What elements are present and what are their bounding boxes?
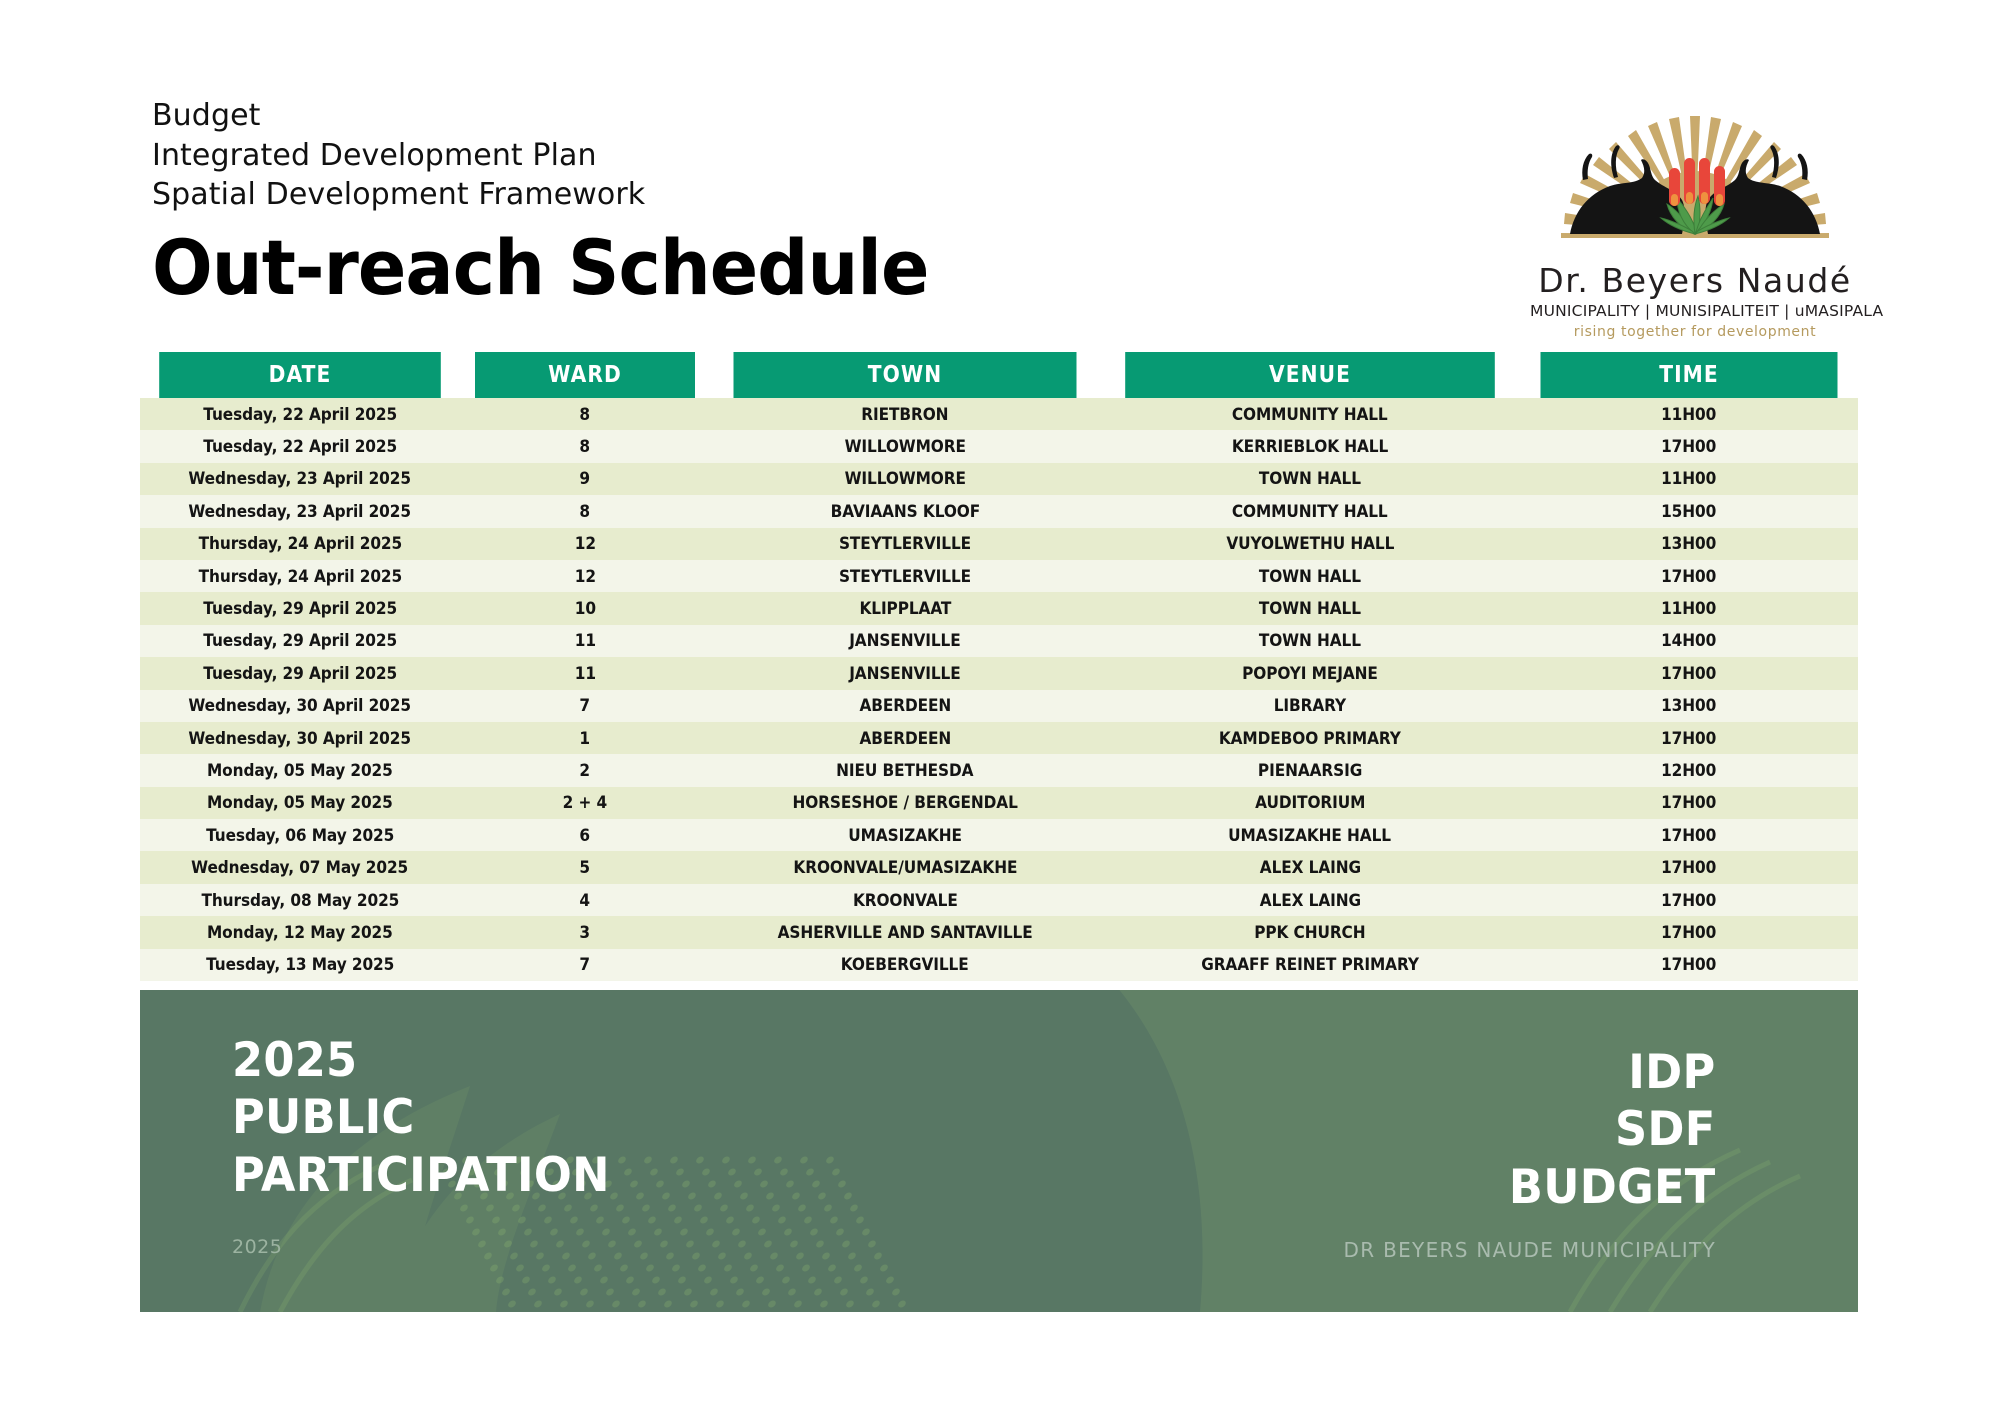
cell-ward: 4 bbox=[460, 884, 710, 916]
cell-venue: ALEX LAING bbox=[1100, 884, 1520, 916]
cell-venue: UMASIZAKHE HALL bbox=[1100, 819, 1520, 851]
public-participation-banner: 2025 PUBLIC PARTICIPATION 2025 IDP SDF B… bbox=[140, 990, 1858, 1312]
cell-venue: TOWN HALL bbox=[1100, 625, 1520, 657]
banner-left-footnote: 2025 bbox=[232, 1236, 282, 1258]
cell-date: Wednesday, 30 April 2025 bbox=[140, 722, 460, 754]
table-head: DATE WARD TOWN VENUE TIME bbox=[140, 352, 1858, 398]
cell-venue: PPK CHURCH bbox=[1100, 916, 1520, 948]
cell-time: 11H00 bbox=[1520, 592, 1858, 624]
cell-date: Thursday, 24 April 2025 bbox=[140, 560, 460, 592]
cell-venue: LIBRARY bbox=[1100, 690, 1520, 722]
table-row[interactable]: Thursday, 24 April 202512STEYTLERVILLEVU… bbox=[140, 528, 1858, 560]
cell-time: 13H00 bbox=[1520, 528, 1858, 560]
table-row[interactable]: Wednesday, 30 April 20257ABERDEENLIBRARY… bbox=[140, 690, 1858, 722]
cell-ward: 1 bbox=[460, 722, 710, 754]
logo-tagline: rising together for development bbox=[1530, 324, 1860, 340]
page-title: Out-reach Schedule bbox=[152, 227, 1186, 309]
table-header-row: DATE WARD TOWN VENUE TIME bbox=[140, 352, 1858, 398]
cell-ward: 11 bbox=[460, 625, 710, 657]
cell-ward: 8 bbox=[460, 398, 710, 430]
cell-time: 13H00 bbox=[1520, 690, 1858, 722]
column-header-time[interactable]: TIME bbox=[1540, 352, 1837, 398]
cell-ward: 10 bbox=[460, 592, 710, 624]
cell-ward: 8 bbox=[460, 430, 710, 462]
table-row[interactable]: Wednesday, 23 April 20259WILLOWMORETOWN … bbox=[140, 463, 1858, 495]
cell-town: KROONVALE/UMASIZAKHE bbox=[710, 851, 1100, 883]
banner-right-headline: IDP SDF BUDGET bbox=[1498, 1044, 1716, 1216]
cell-town: RIETBRON bbox=[710, 398, 1100, 430]
table-row[interactable]: Wednesday, 07 May 20255KROONVALE/UMASIZA… bbox=[140, 851, 1858, 883]
cell-date: Wednesday, 07 May 2025 bbox=[140, 851, 460, 883]
poster-page: Budget Integrated Development Plan Spati… bbox=[0, 0, 2000, 1414]
cell-venue: COMMUNITY HALL bbox=[1100, 495, 1520, 527]
table-row[interactable]: Tuesday, 22 April 20258WILLOWMOREKERRIEB… bbox=[140, 430, 1858, 462]
cell-time: 17H00 bbox=[1520, 884, 1858, 916]
table-row[interactable]: Tuesday, 29 April 202511JANSENVILLEPOPOY… bbox=[140, 657, 1858, 689]
subtitle-idp: Integrated Development Plan bbox=[152, 136, 1252, 176]
cell-town: STEYTLERVILLE bbox=[710, 560, 1100, 592]
cell-date: Monday, 05 May 2025 bbox=[140, 787, 460, 819]
cell-ward: 12 bbox=[460, 560, 710, 592]
cell-date: Tuesday, 29 April 2025 bbox=[140, 592, 460, 624]
cell-town: STEYTLERVILLE bbox=[710, 528, 1100, 560]
cell-venue: ALEX LAING bbox=[1100, 851, 1520, 883]
table-row[interactable]: Thursday, 08 May 20254KROONVALEALEX LAIN… bbox=[140, 884, 1858, 916]
subtitle-sdf: Spatial Development Framework bbox=[152, 175, 1252, 215]
cell-venue: TOWN HALL bbox=[1100, 463, 1520, 495]
banner-line-sdf: SDF bbox=[1509, 1101, 1716, 1158]
cell-time: 12H00 bbox=[1520, 754, 1858, 786]
cell-time: 17H00 bbox=[1520, 916, 1858, 948]
cell-town: ABERDEEN bbox=[710, 690, 1100, 722]
municipality-logo: Dr. Beyers Naudé MUNICIPALITY | MUNISIPA… bbox=[1530, 108, 1860, 333]
cell-date: Monday, 05 May 2025 bbox=[140, 754, 460, 786]
cell-ward: 7 bbox=[460, 949, 710, 981]
table-row[interactable]: Thursday, 24 April 202512STEYTLERVILLETO… bbox=[140, 560, 1858, 592]
cell-date: Thursday, 08 May 2025 bbox=[140, 884, 460, 916]
cell-ward: 6 bbox=[460, 819, 710, 851]
column-header-date[interactable]: DATE bbox=[159, 352, 441, 398]
cell-town: NIEU BETHESDA bbox=[710, 754, 1100, 786]
cell-venue: COMMUNITY HALL bbox=[1100, 398, 1520, 430]
column-header-venue[interactable]: VENUE bbox=[1125, 352, 1495, 398]
banner-line-public: PUBLIC bbox=[232, 1089, 610, 1146]
cell-town: KLIPPLAAT bbox=[710, 592, 1100, 624]
column-header-town[interactable]: TOWN bbox=[733, 352, 1076, 398]
table-row[interactable]: Tuesday, 29 April 202511JANSENVILLETOWN … bbox=[140, 625, 1858, 657]
cell-date: Monday, 12 May 2025 bbox=[140, 916, 460, 948]
cell-venue: AUDITORIUM bbox=[1100, 787, 1520, 819]
cell-ward: 2 bbox=[460, 754, 710, 786]
table-row[interactable]: Monday, 12 May 20253ASHERVILLE AND SANTA… bbox=[140, 916, 1858, 948]
cell-ward: 8 bbox=[460, 495, 710, 527]
cell-town: HORSESHOE / BERGENDAL bbox=[710, 787, 1100, 819]
cell-date: Wednesday, 23 April 2025 bbox=[140, 463, 460, 495]
cell-time: 17H00 bbox=[1520, 949, 1858, 981]
cell-town: ASHERVILLE AND SANTAVILLE bbox=[710, 916, 1100, 948]
cell-town: KROONVALE bbox=[710, 884, 1100, 916]
cell-date: Wednesday, 23 April 2025 bbox=[140, 495, 460, 527]
outreach-schedule-table: DATE WARD TOWN VENUE TIME Tuesday, 22 Ap… bbox=[140, 352, 1858, 981]
cell-venue: TOWN HALL bbox=[1100, 592, 1520, 624]
cell-time: 17H00 bbox=[1520, 430, 1858, 462]
cell-venue: POPOYI MEJANE bbox=[1100, 657, 1520, 689]
header-block: Budget Integrated Development Plan Spati… bbox=[152, 96, 1252, 309]
banner-left-headline: 2025 PUBLIC PARTICIPATION bbox=[232, 1032, 630, 1204]
cell-ward: 5 bbox=[460, 851, 710, 883]
table-row[interactable]: Tuesday, 06 May 20256UMASIZAKHEUMASIZAKH… bbox=[140, 819, 1858, 851]
cell-town: BAVIAANS KLOOF bbox=[710, 495, 1100, 527]
logo-name: Dr. Beyers Naudé bbox=[1530, 264, 1860, 297]
table-row[interactable]: Tuesday, 29 April 202510KLIPPLAATTOWN HA… bbox=[140, 592, 1858, 624]
cell-date: Tuesday, 13 May 2025 bbox=[140, 949, 460, 981]
column-header-ward[interactable]: WARD bbox=[475, 352, 695, 398]
cell-venue: GRAAFF REINET PRIMARY bbox=[1100, 949, 1520, 981]
banner-line-participation: PARTICIPATION bbox=[232, 1147, 610, 1204]
cell-time: 17H00 bbox=[1520, 787, 1858, 819]
subtitle-budget: Budget bbox=[152, 96, 1252, 136]
cell-venue: TOWN HALL bbox=[1100, 560, 1520, 592]
cell-ward: 12 bbox=[460, 528, 710, 560]
cell-date: Tuesday, 29 April 2025 bbox=[140, 625, 460, 657]
sunburst-kudu-aloe-icon bbox=[1530, 108, 1860, 268]
cell-time: 17H00 bbox=[1520, 819, 1858, 851]
table-row[interactable]: Tuesday, 13 May 20257KOEBERGVILLEGRAAFF … bbox=[140, 949, 1858, 981]
cell-ward: 9 bbox=[460, 463, 710, 495]
cell-time: 17H00 bbox=[1520, 657, 1858, 689]
cell-town: WILLOWMORE bbox=[710, 463, 1100, 495]
banner-line-idp: IDP bbox=[1509, 1044, 1716, 1101]
cell-venue: VUYOLWETHU HALL bbox=[1100, 528, 1520, 560]
cell-time: 11H00 bbox=[1520, 463, 1858, 495]
table-row[interactable]: Wednesday, 23 April 20258BAVIAANS KLOOFC… bbox=[140, 495, 1858, 527]
table-row[interactable]: Monday, 05 May 20252 + 4HORSESHOE / BERG… bbox=[140, 787, 1858, 819]
cell-venue: KERRIEBLOK HALL bbox=[1100, 430, 1520, 462]
cell-date: Tuesday, 06 May 2025 bbox=[140, 819, 460, 851]
cell-date: Tuesday, 29 April 2025 bbox=[140, 657, 460, 689]
cell-time: 15H00 bbox=[1520, 495, 1858, 527]
banner-line-budget: BUDGET bbox=[1509, 1159, 1716, 1216]
cell-date: Wednesday, 30 April 2025 bbox=[140, 690, 460, 722]
cell-time: 17H00 bbox=[1520, 851, 1858, 883]
cell-venue: PIENAARSIG bbox=[1100, 754, 1520, 786]
table-row[interactable]: Monday, 05 May 20252NIEU BETHESDAPIENAAR… bbox=[140, 754, 1858, 786]
cell-town: ABERDEEN bbox=[710, 722, 1100, 754]
cell-ward: 7 bbox=[460, 690, 710, 722]
cell-town: WILLOWMORE bbox=[710, 430, 1100, 462]
cell-town: KOEBERGVILLE bbox=[710, 949, 1100, 981]
cell-venue: KAMDEBOO PRIMARY bbox=[1100, 722, 1520, 754]
logo-subline: MUNICIPALITY | MUNISIPALITEIT | uMASIPAL… bbox=[1530, 302, 1860, 320]
cell-town: JANSENVILLE bbox=[710, 657, 1100, 689]
cell-ward: 3 bbox=[460, 916, 710, 948]
banner-line-year: 2025 bbox=[232, 1032, 610, 1089]
table-row[interactable]: Tuesday, 22 April 20258RIETBRONCOMMUNITY… bbox=[140, 398, 1858, 430]
cell-time: 14H00 bbox=[1520, 625, 1858, 657]
cell-time: 17H00 bbox=[1520, 722, 1858, 754]
cell-date: Tuesday, 22 April 2025 bbox=[140, 398, 460, 430]
table-body: Tuesday, 22 April 20258RIETBRONCOMMUNITY… bbox=[140, 398, 1858, 981]
cell-time: 17H00 bbox=[1520, 560, 1858, 592]
cell-ward: 2 + 4 bbox=[460, 787, 710, 819]
cell-date: Tuesday, 22 April 2025 bbox=[140, 430, 460, 462]
banner-right-footnote: DR BEYERS NAUDE MUNICIPALITY bbox=[1344, 1238, 1716, 1262]
cell-date: Thursday, 24 April 2025 bbox=[140, 528, 460, 560]
cell-town: JANSENVILLE bbox=[710, 625, 1100, 657]
cell-time: 11H00 bbox=[1520, 398, 1858, 430]
cell-town: UMASIZAKHE bbox=[710, 819, 1100, 851]
cell-ward: 11 bbox=[460, 657, 710, 689]
table-row[interactable]: Wednesday, 30 April 20251ABERDEENKAMDEBO… bbox=[140, 722, 1858, 754]
